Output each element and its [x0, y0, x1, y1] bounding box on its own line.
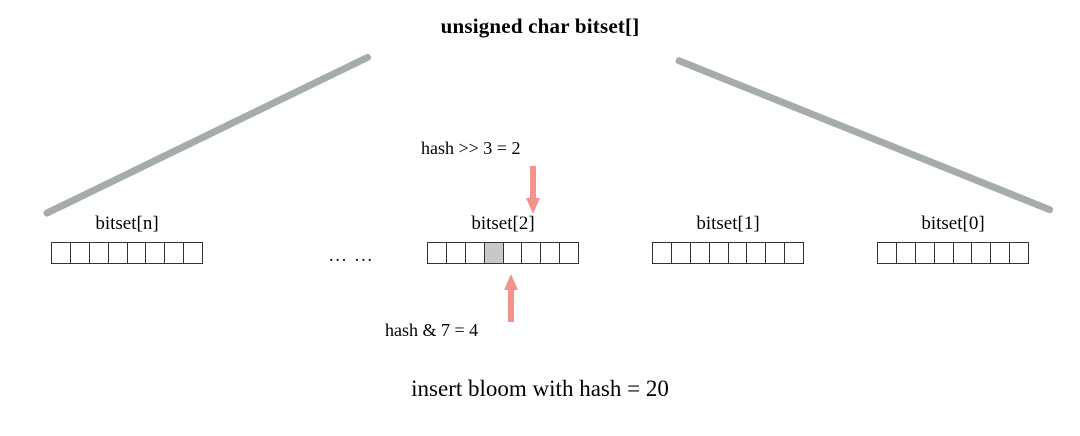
- bitset-cell: [729, 243, 748, 263]
- bitset-label-0: bitset[0]: [877, 212, 1029, 235]
- arrow-shaft: [508, 288, 514, 322]
- bracket-line-right: [675, 56, 1054, 214]
- bitset-cell: [522, 243, 541, 263]
- bitset-cell: [972, 243, 991, 263]
- arrow-down-icon: [526, 166, 540, 214]
- page-title: unsigned char bitset[]: [0, 14, 1080, 39]
- bracket-line-left: [42, 53, 372, 218]
- bitset-label-1: bitset[1]: [652, 212, 804, 235]
- bitset-cell: [71, 243, 90, 263]
- bitset-label-2: bitset[2]: [427, 212, 579, 235]
- bitset-cell: [1010, 243, 1028, 263]
- bitset-cell: [52, 243, 71, 263]
- bitset-cell: [691, 243, 710, 263]
- bitset-cells-1: [652, 242, 804, 264]
- annotation-shift: hash >> 3 = 2: [421, 138, 520, 159]
- bitset-cell: [504, 243, 523, 263]
- bitset-cell: [541, 243, 560, 263]
- bitset-cell: [653, 243, 672, 263]
- diagram-caption: insert bloom with hash = 20: [0, 376, 1080, 402]
- bitset-cell: [447, 243, 466, 263]
- bitset-cell: [785, 243, 803, 263]
- bitset-cell: [991, 243, 1010, 263]
- bitset-cell: [935, 243, 954, 263]
- bitset-group-1: bitset[1]: [652, 212, 804, 264]
- annotation-mask: hash & 7 = 4: [385, 320, 478, 341]
- bitset-cell: [109, 243, 128, 263]
- bitset-cell: [766, 243, 785, 263]
- bitset-cell: [128, 243, 147, 263]
- bitset-cell: [916, 243, 935, 263]
- bitset-cell: [466, 243, 485, 263]
- bitset-cell: [954, 243, 973, 263]
- bitset-cell: [710, 243, 729, 263]
- bitset-cell: [90, 243, 109, 263]
- bitset-group-n: bitset[n]: [51, 212, 203, 264]
- bitset-cells-2: [427, 242, 579, 264]
- bitset-cells-n: [51, 242, 203, 264]
- bitset-label-n: bitset[n]: [51, 212, 203, 235]
- arrow-shaft: [530, 166, 536, 200]
- bitset-cell-highlighted: [485, 243, 504, 263]
- bitset-cells-0: [877, 242, 1029, 264]
- arrow-up-icon: [504, 274, 518, 322]
- bitset-cell: [165, 243, 184, 263]
- bitset-cell: [897, 243, 916, 263]
- bitset-cell: [184, 243, 202, 263]
- bitset-cell: [560, 243, 578, 263]
- bitset-cell: [672, 243, 691, 263]
- bitset-group-2: bitset[2]: [427, 212, 579, 264]
- diagram-canvas: unsigned char bitset[] bitset[n] … … has…: [0, 0, 1080, 436]
- bitset-cell: [878, 243, 897, 263]
- bitset-cell: [747, 243, 766, 263]
- bitset-cell: [146, 243, 165, 263]
- bitset-group-0: bitset[0]: [877, 212, 1029, 264]
- ellipsis-separator: … …: [296, 245, 406, 267]
- bitset-cell: [428, 243, 447, 263]
